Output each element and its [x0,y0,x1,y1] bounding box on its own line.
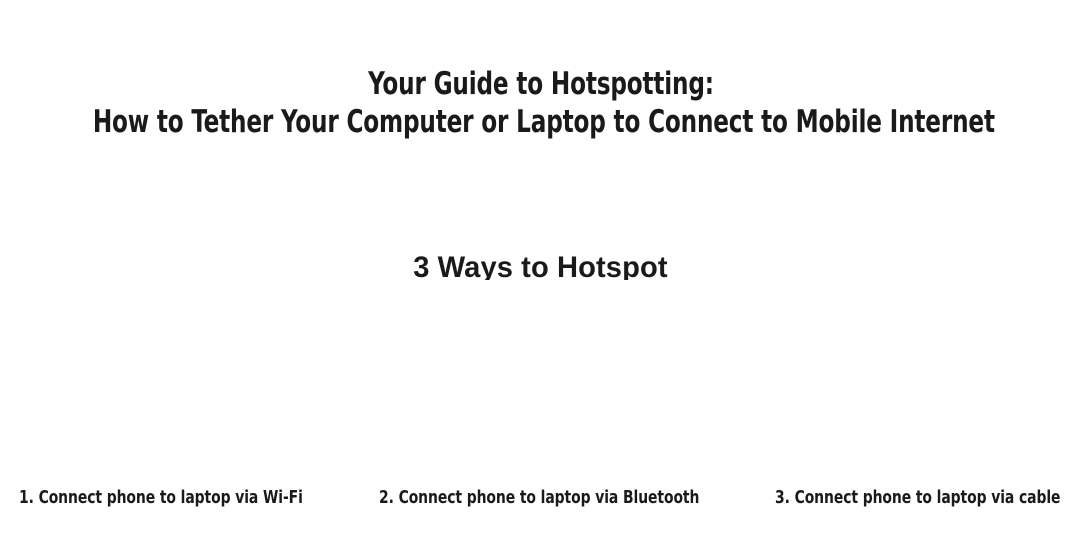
method-image-2 [370,280,710,475]
method-caption-2: 2. Connect phone to laptop via Bluetooth [379,486,699,510]
method-image-3 [740,280,1080,475]
method-caption-3: 3. Connect phone to laptop via cable [775,486,1060,510]
page-title-line-1: Your Guide to Hotspotting: [93,65,989,103]
method-caption-1: 1. Connect phone to laptop via Wi-Fi [19,486,303,510]
page-title: Your Guide to Hotspotting: How to Tether… [93,65,989,141]
method-image-1 [0,280,340,475]
method-image-strip [0,280,1080,475]
page-title-line-2: How to Tether Your Computer or Laptop to… [93,103,989,141]
article-page: Your Guide to Hotspotting: How to Tether… [0,0,1080,552]
method-caption-row: 1. Connect phone to laptop via Wi-Fi 2. … [0,486,1080,512]
